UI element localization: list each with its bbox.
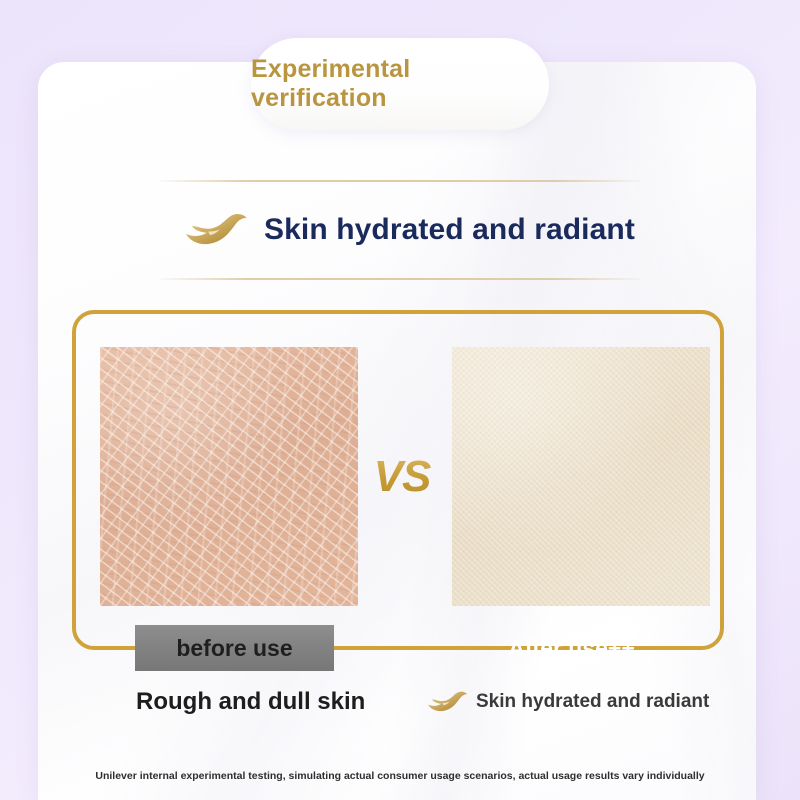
heading-rule-bottom bbox=[160, 278, 640, 280]
after-caption-text: Skin hydrated and radiant bbox=[476, 691, 709, 713]
poster-canvas: Experimental verification Skin hydrated … bbox=[0, 0, 800, 800]
heading-rule-top bbox=[160, 180, 640, 182]
heading-text: Skin hydrated and radiant bbox=[264, 213, 635, 247]
before-use-tag-label: before use bbox=[176, 635, 292, 662]
footer-disclaimer: Unilever internal experimental testing, … bbox=[0, 770, 800, 782]
dove-bird-icon bbox=[428, 688, 468, 716]
heading-row: Skin hydrated and radiant bbox=[150, 194, 650, 266]
after-caption: Skin hydrated and radiant bbox=[428, 688, 709, 716]
after-skin-image bbox=[452, 347, 710, 606]
title-badge-label: Experimental verification bbox=[251, 55, 549, 113]
after-use-tag-label: After use++ bbox=[508, 635, 635, 662]
title-badge: Experimental verification bbox=[251, 38, 549, 130]
before-skin-image bbox=[100, 347, 358, 606]
heading-band: Skin hydrated and radiant bbox=[150, 178, 650, 284]
vs-divider-label: VS bbox=[360, 452, 444, 502]
before-caption-text: Rough and dull skin bbox=[136, 688, 365, 716]
before-use-tag: before use bbox=[135, 625, 334, 671]
before-caption: Rough and dull skin bbox=[136, 688, 365, 716]
dove-bird-icon bbox=[186, 209, 248, 251]
after-use-tag: After use++ bbox=[472, 625, 671, 671]
